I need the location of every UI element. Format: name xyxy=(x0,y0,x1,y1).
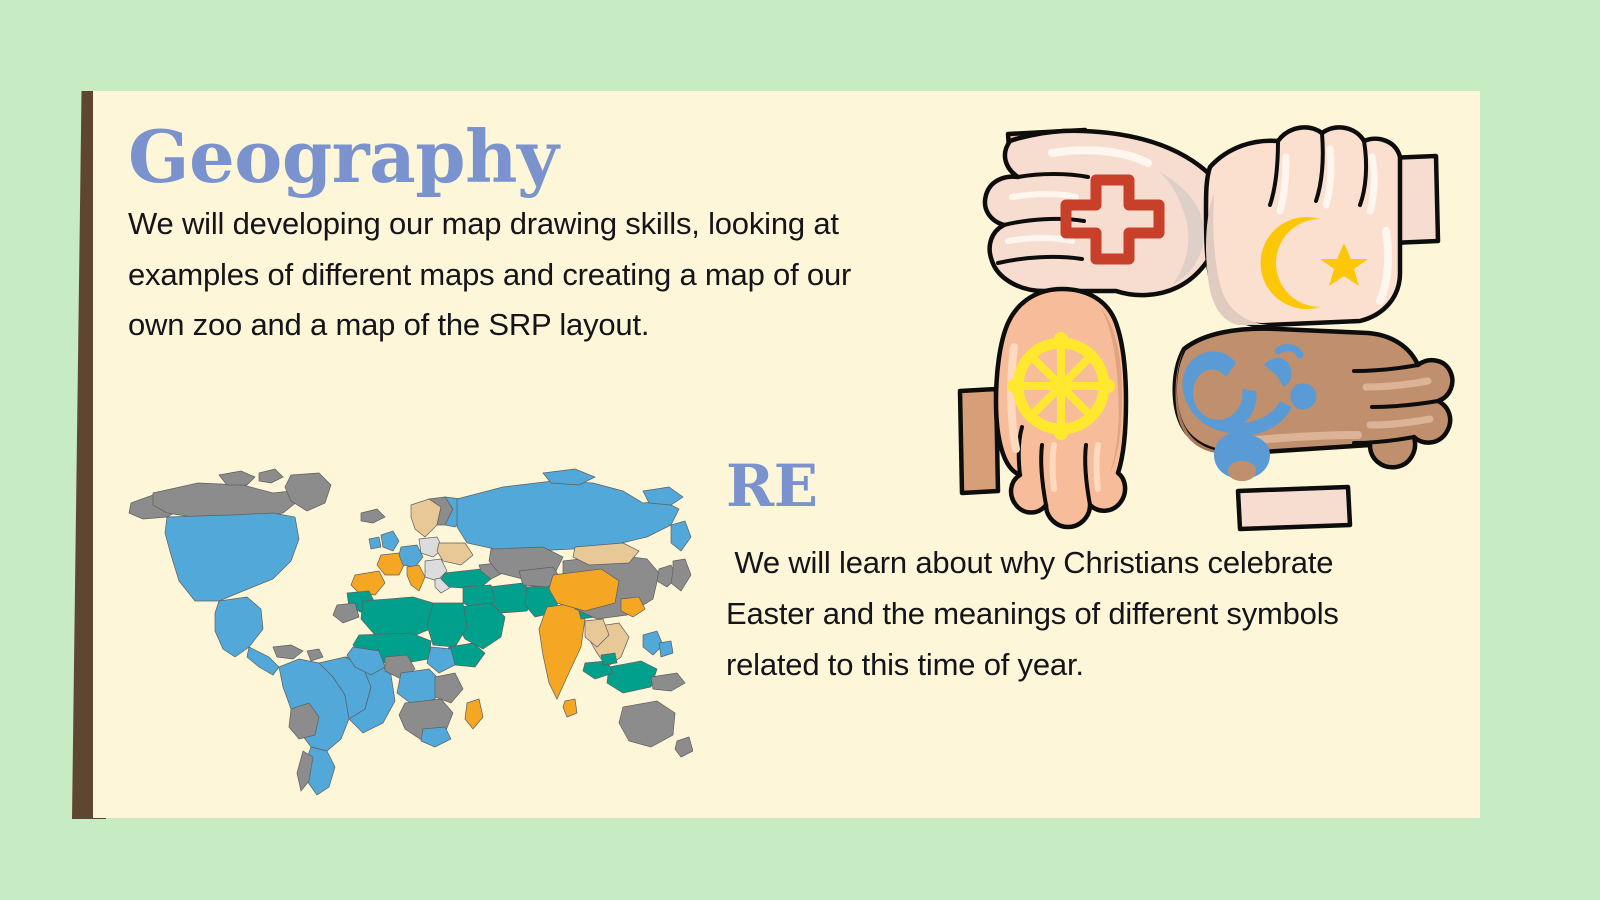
world-religions-map xyxy=(123,451,693,796)
slide-stage: Geography We will developing our map dra… xyxy=(0,0,1600,900)
hands-illustration-svg xyxy=(948,101,1473,541)
geography-section: Geography We will developing our map dra… xyxy=(128,121,888,351)
world-map-svg xyxy=(123,451,693,796)
slide-card: Geography We will developing our map dra… xyxy=(93,91,1480,818)
re-body-text: We will learn about why Christians celeb… xyxy=(726,537,1386,690)
four-hands-illustration xyxy=(948,101,1473,541)
cuff-bottom-left xyxy=(960,389,998,493)
geography-title: Geography xyxy=(128,121,888,193)
cuff-bottom-right xyxy=(1238,487,1350,529)
geography-body-text: We will developing our map drawing skill… xyxy=(128,199,853,351)
